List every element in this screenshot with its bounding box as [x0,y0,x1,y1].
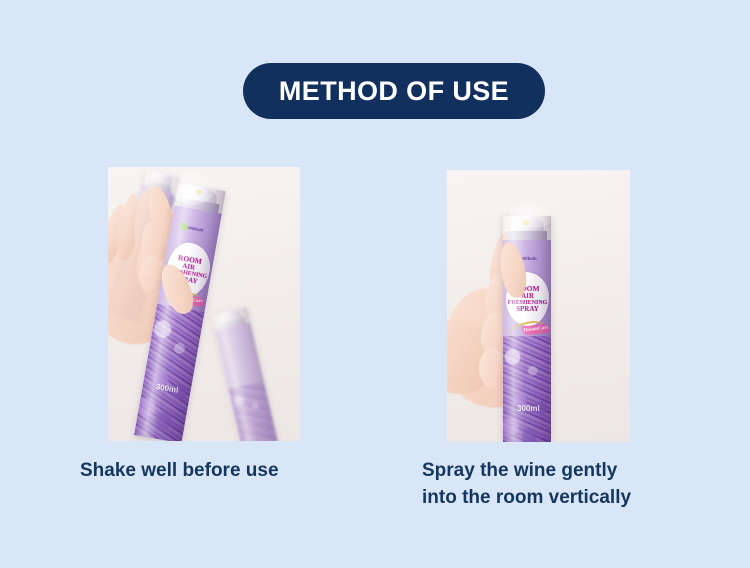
step-image-shake-well: Witkoin ROOM AIR FRESHENING SPRAY DreamC… [108,167,300,441]
caption-line-2: into the room vertically [422,485,722,512]
page-title-badge: METHOD OF USE [243,63,545,119]
brand-name: Witkoin [188,225,204,233]
brand-name: Witkoin [521,256,537,261]
can-upper-body [215,322,264,389]
photo-backdrop-left: Witkoin ROOM AIR FRESHENING SPRAY DreamC… [108,167,300,441]
caption-spray-vertically: Spray the wine gently into the room vert… [422,458,722,512]
caption-shake-well: Shake well before use [80,458,380,485]
leaf-icon [181,222,188,231]
sub-badge-label: DreamCare [523,325,549,333]
caption-line-1: Spray the wine gently [422,458,722,485]
spray-mist [170,171,216,205]
step-image-spray-vertically: Witkoin ROOM AIR FRESHENING SPRAY DreamC… [447,170,630,442]
can-lavender-field [229,381,281,441]
photo-backdrop-right: Witkoin ROOM AIR FRESHENING SPRAY DreamC… [447,170,630,442]
can-lavender-field [503,336,551,442]
spray-mist [509,200,553,230]
can-volume-label: 300ml [517,404,540,413]
background-can-lower-right [212,307,281,441]
label-line-4: SPRAY [516,306,539,313]
page-title: METHOD OF USE [279,76,509,107]
